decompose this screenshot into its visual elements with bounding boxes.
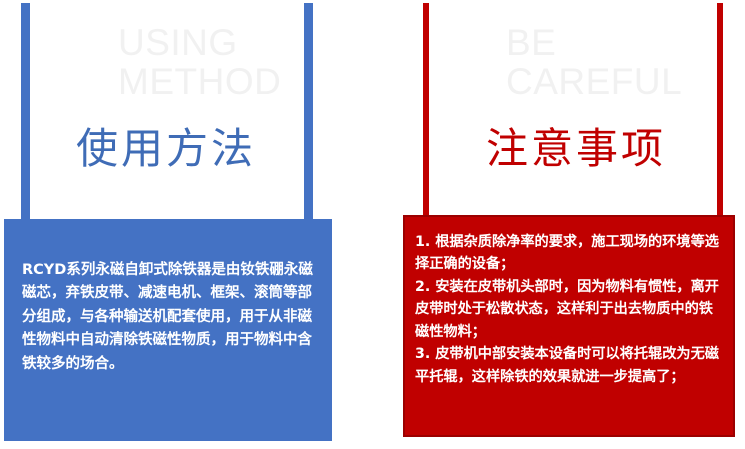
left-vertical-rail-blue (21, 3, 30, 219)
panel-using-method: USING METHOD 使用方法 RCYD系列永磁自卸式除铁器是由钕铁硼永磁磁… (0, 0, 373, 449)
body-box-be-careful: 1. 根据杂质除净率的要求，施工现场的环境等选择正确的设备； 2. 安装在皮带机… (403, 215, 735, 437)
right-vertical-rail-blue (304, 3, 313, 219)
watermark-be-careful: BE CAREFUL (506, 24, 682, 102)
right-vertical-rail-red (717, 3, 723, 216)
body-box-using-method: RCYD系列永磁自卸式除铁器是由钕铁硼永磁磁芯，弃铁皮带、减速电机、框架、滚筒等… (4, 219, 332, 441)
watermark-using-method: USING METHOD (118, 24, 281, 102)
heading-be-careful-cn: 注意事项 (486, 128, 666, 170)
left-vertical-rail-red (423, 3, 429, 216)
slide-canvas: USING METHOD 使用方法 RCYD系列永磁自卸式除铁器是由钕铁硼永磁磁… (0, 0, 745, 449)
heading-using-method-cn: 使用方法 (76, 128, 256, 170)
